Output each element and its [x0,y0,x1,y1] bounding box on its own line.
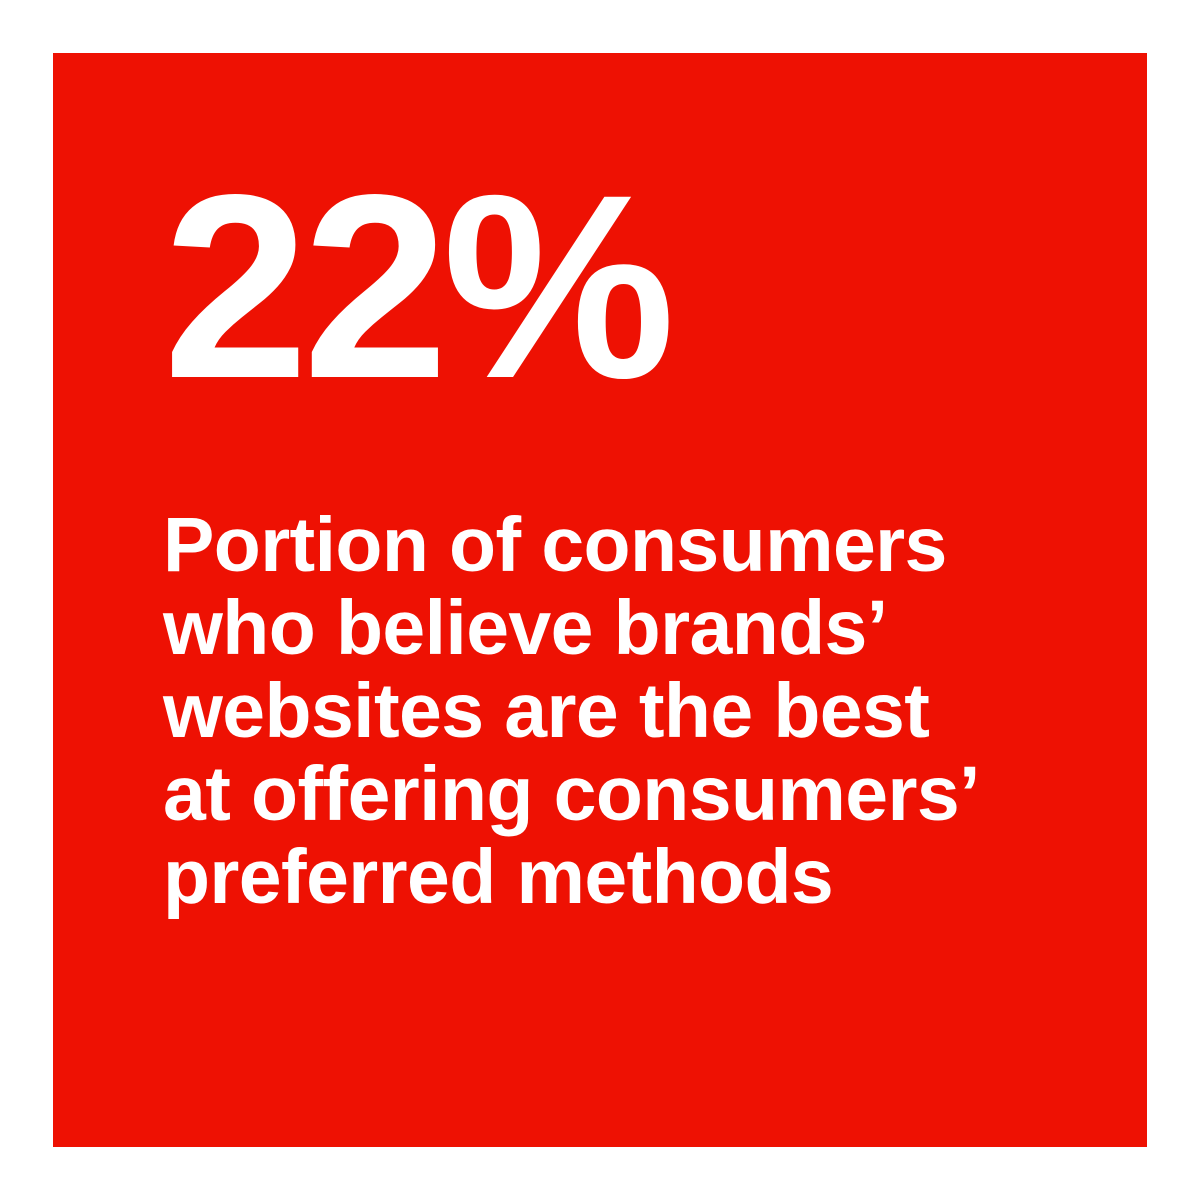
caption-line-2: who believe brands’ [163,587,980,670]
caption-line-1: Portion of consumers [163,504,980,587]
stat-caption: Portion of consumers who believe brands’… [163,504,980,919]
page-canvas: 22% Portion of consumers who believe bra… [0,0,1200,1200]
stat-figure: 22% [163,156,669,418]
caption-line-5: preferred methods [163,836,980,919]
stat-card: 22% Portion of consumers who believe bra… [53,53,1147,1147]
caption-line-4: at offering consumers’ [163,753,980,836]
caption-line-3: websites are the best [163,670,980,753]
